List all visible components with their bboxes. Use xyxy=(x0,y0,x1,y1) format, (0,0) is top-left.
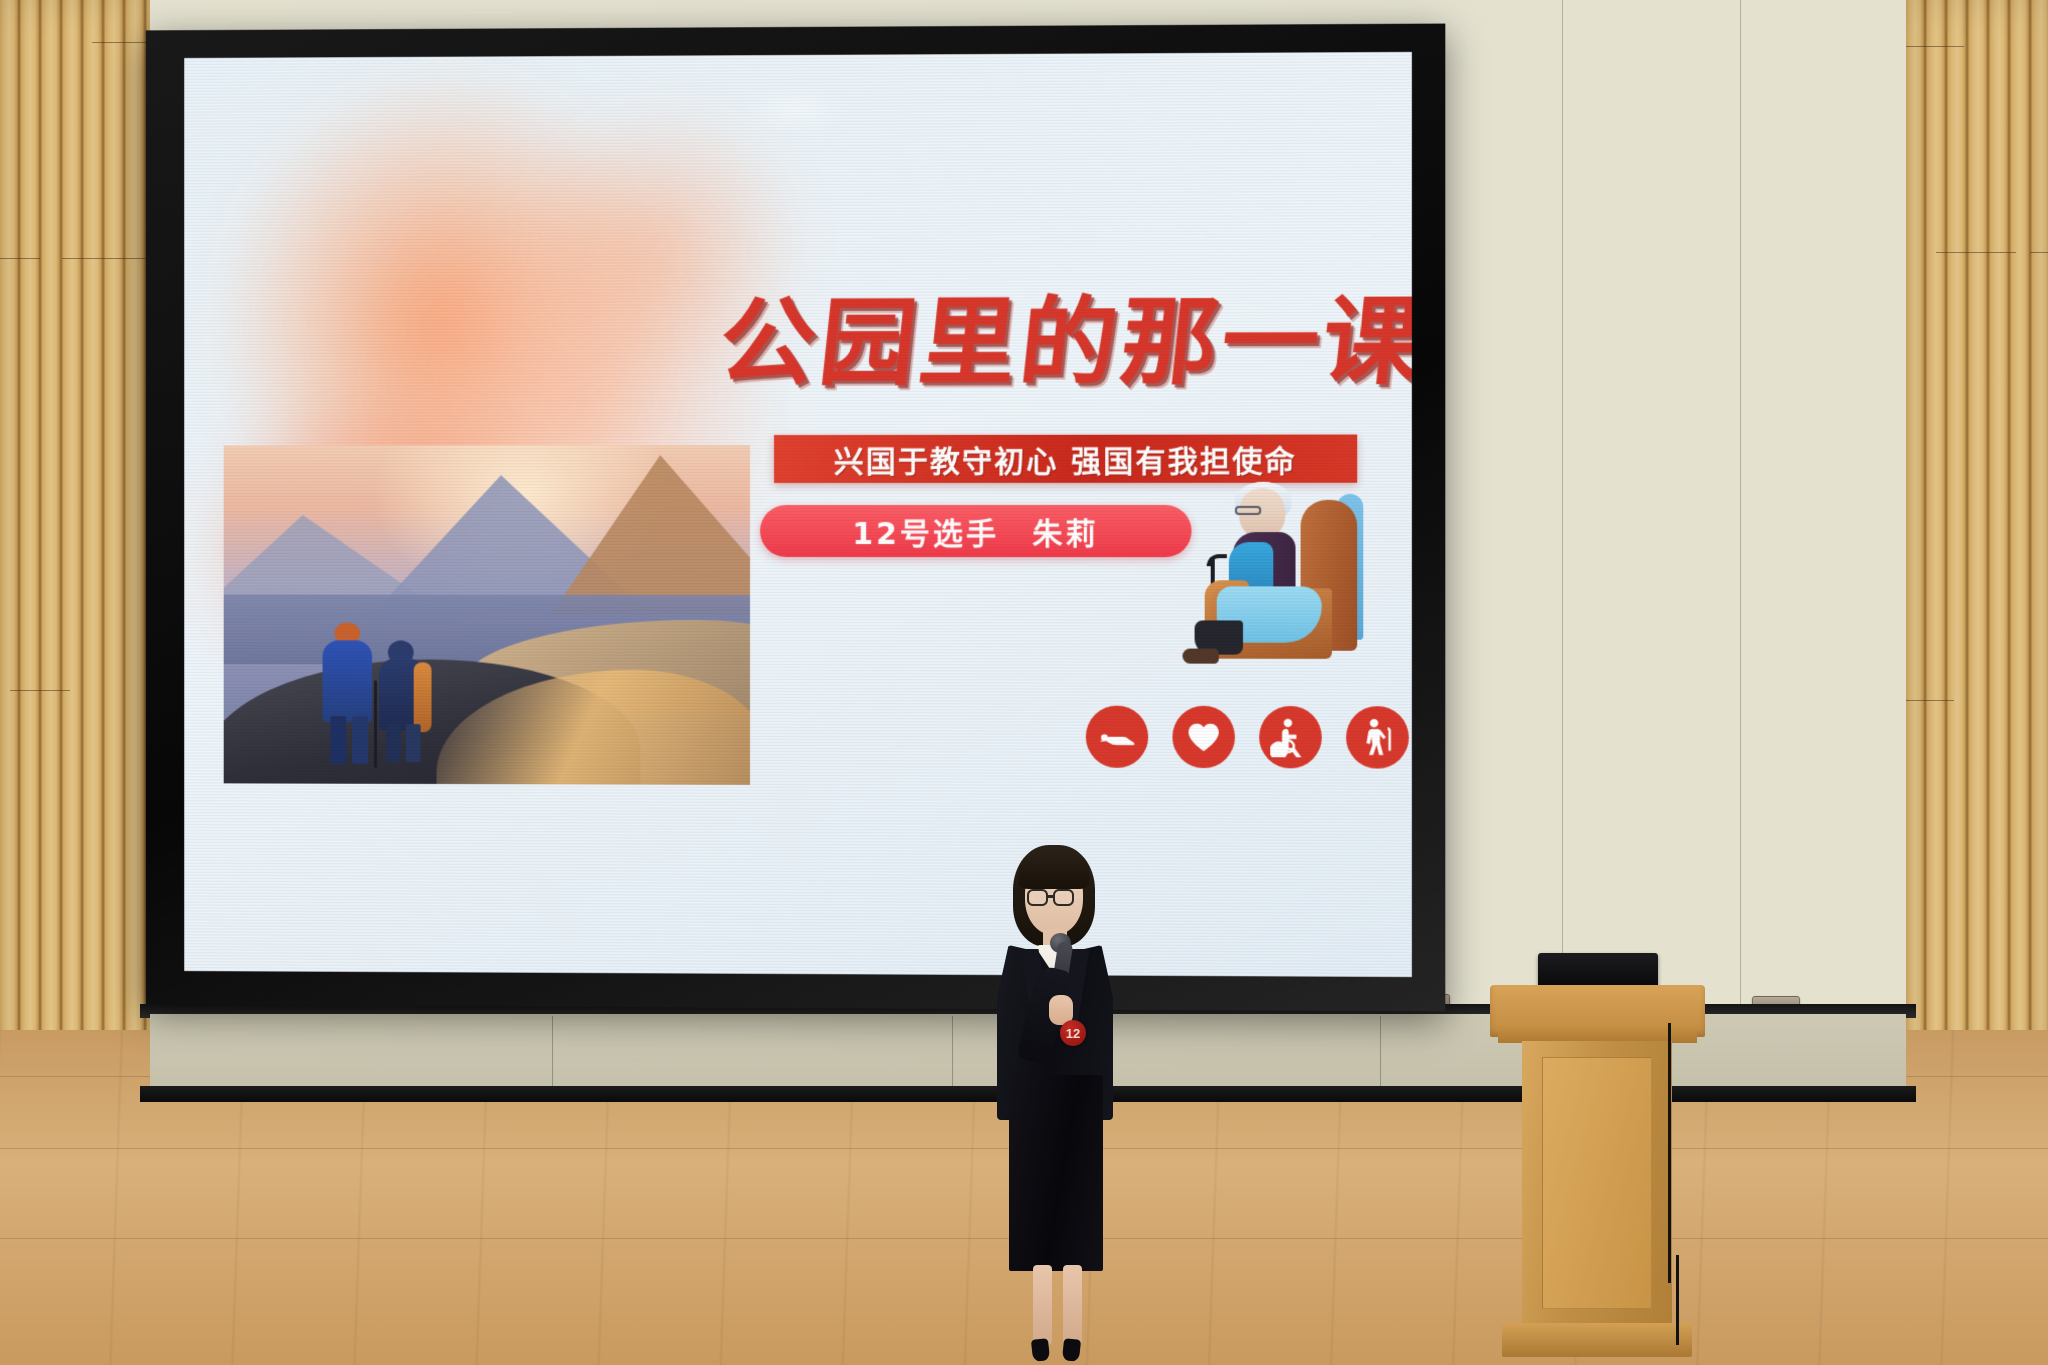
wheelchair-icon[interactable] xyxy=(1259,706,1322,768)
led-screen-bezel: 公园里的那一课 兴国于教守初心 强国有我担使命 12号选手 朱莉 xyxy=(146,24,1446,1012)
podium-base xyxy=(1502,1323,1692,1357)
slide-subtitle: 兴国于教守初心 强国有我担使命 xyxy=(834,437,1297,481)
wall-panel-seam xyxy=(1740,0,1741,1010)
helping-hand-icon[interactable] xyxy=(1086,706,1148,768)
slide-subtitle-bar: 兴国于教守初心 强国有我担使命 xyxy=(774,434,1357,483)
seated-elderly-illustration xyxy=(1176,480,1363,676)
led-screen[interactable]: 公园里的那一课 兴国于教守初心 强国有我担使命 12号选手 朱莉 xyxy=(184,52,1412,977)
glasses-icon xyxy=(1053,889,1074,906)
stage-wall-seam xyxy=(952,1016,953,1088)
contestant-badge: 12 xyxy=(1060,1020,1086,1046)
cable xyxy=(1668,1023,1694,1283)
wood-slat-panel-left xyxy=(0,0,150,1100)
care-icon-row xyxy=(1086,706,1409,769)
heart-icon[interactable] xyxy=(1172,706,1235,768)
sunset-couple-photo xyxy=(224,445,750,785)
glasses-icon xyxy=(1027,889,1048,906)
laptop[interactable] xyxy=(1538,953,1658,987)
elderly-cane-icon[interactable] xyxy=(1346,706,1409,769)
slide-title: 公园里的那一课 xyxy=(715,294,1409,392)
podium-column xyxy=(1522,1041,1672,1326)
contestant-pill: 12号选手 朱莉 xyxy=(760,505,1192,557)
stage-wall-seam xyxy=(552,1016,553,1088)
stage-wall-seam xyxy=(1380,1016,1381,1088)
wall-panel-seam xyxy=(1562,0,1563,1010)
contestant-label: 12号选手 朱莉 xyxy=(852,509,1099,553)
podium xyxy=(1490,985,1705,1360)
stage-scene: 公园里的那一课 兴国于教守初心 强国有我担使命 12号选手 朱莉 xyxy=(0,0,2048,1365)
speaker-person: 12 xyxy=(975,845,1135,1365)
glasses-icon xyxy=(1235,506,1261,515)
wood-slat-panel-right xyxy=(1906,0,2048,1100)
